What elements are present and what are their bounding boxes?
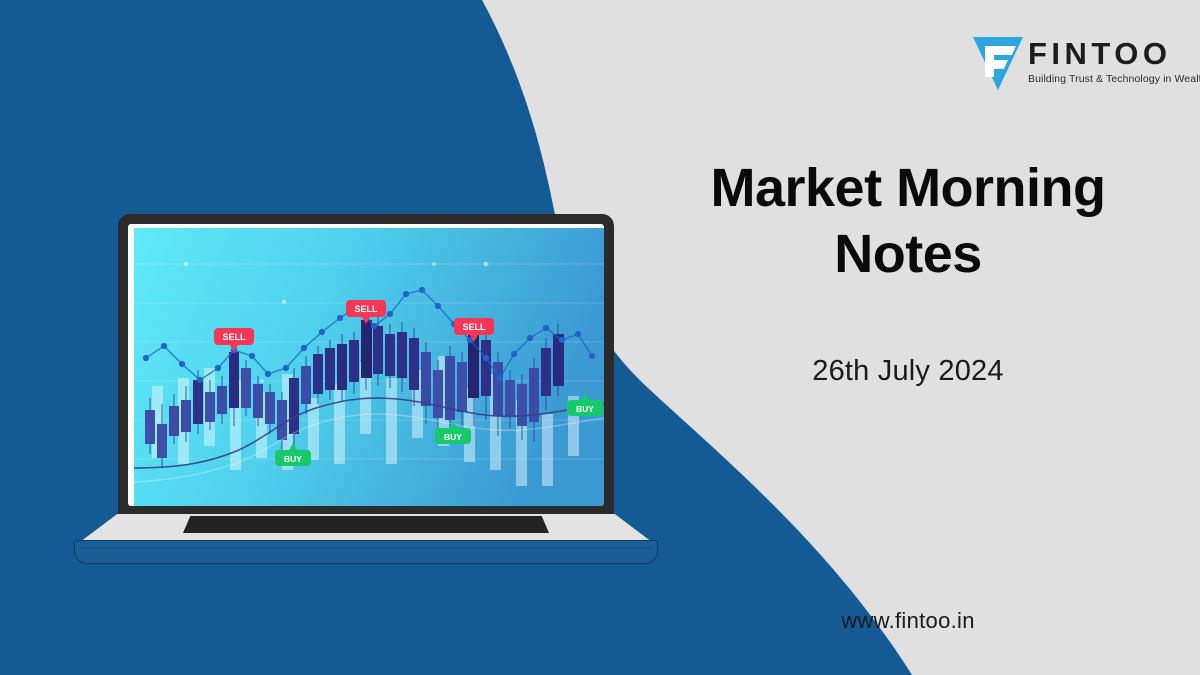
brand-logo[interactable]: FINTOO Building Trust & Technology in We… [972, 33, 1172, 95]
fintoo-triangle-f-logo-icon [972, 33, 1024, 91]
poster-canvas: SELL SELL SELL BUY [0, 0, 1200, 675]
svg-text:BUY: BUY [576, 404, 594, 414]
trading-chart-screen: SELL SELL SELL BUY [134, 228, 604, 506]
svg-text:BUY: BUY [444, 432, 462, 442]
svg-text:SELL: SELL [462, 322, 486, 332]
candlestick-chart: SELL SELL SELL BUY [134, 228, 604, 506]
laptop-illustration: SELL SELL SELL BUY [66, 214, 666, 574]
brand-logo-text: FINTOO Building Trust & Technology in We… [1028, 33, 1200, 85]
laptop-front-edge [74, 540, 658, 564]
publication-date: 26th July 2024 [648, 355, 1168, 388]
page-title: Market Morning Notes [648, 156, 1168, 288]
laptop-screen-bezel-inner: SELL SELL SELL BUY [128, 224, 604, 506]
website-url[interactable]: www.fintoo.in [648, 608, 1168, 634]
brand-tagline: Building Trust & Technology in Wealth [1028, 73, 1200, 85]
svg-text:BUY: BUY [284, 454, 302, 464]
laptop-keyboard-deck [183, 516, 549, 533]
svg-text:SELL: SELL [354, 304, 378, 314]
laptop-front-edge-line [80, 547, 652, 549]
brand-name: FINTOO [1028, 38, 1200, 69]
svg-text:SELL: SELL [222, 332, 246, 342]
